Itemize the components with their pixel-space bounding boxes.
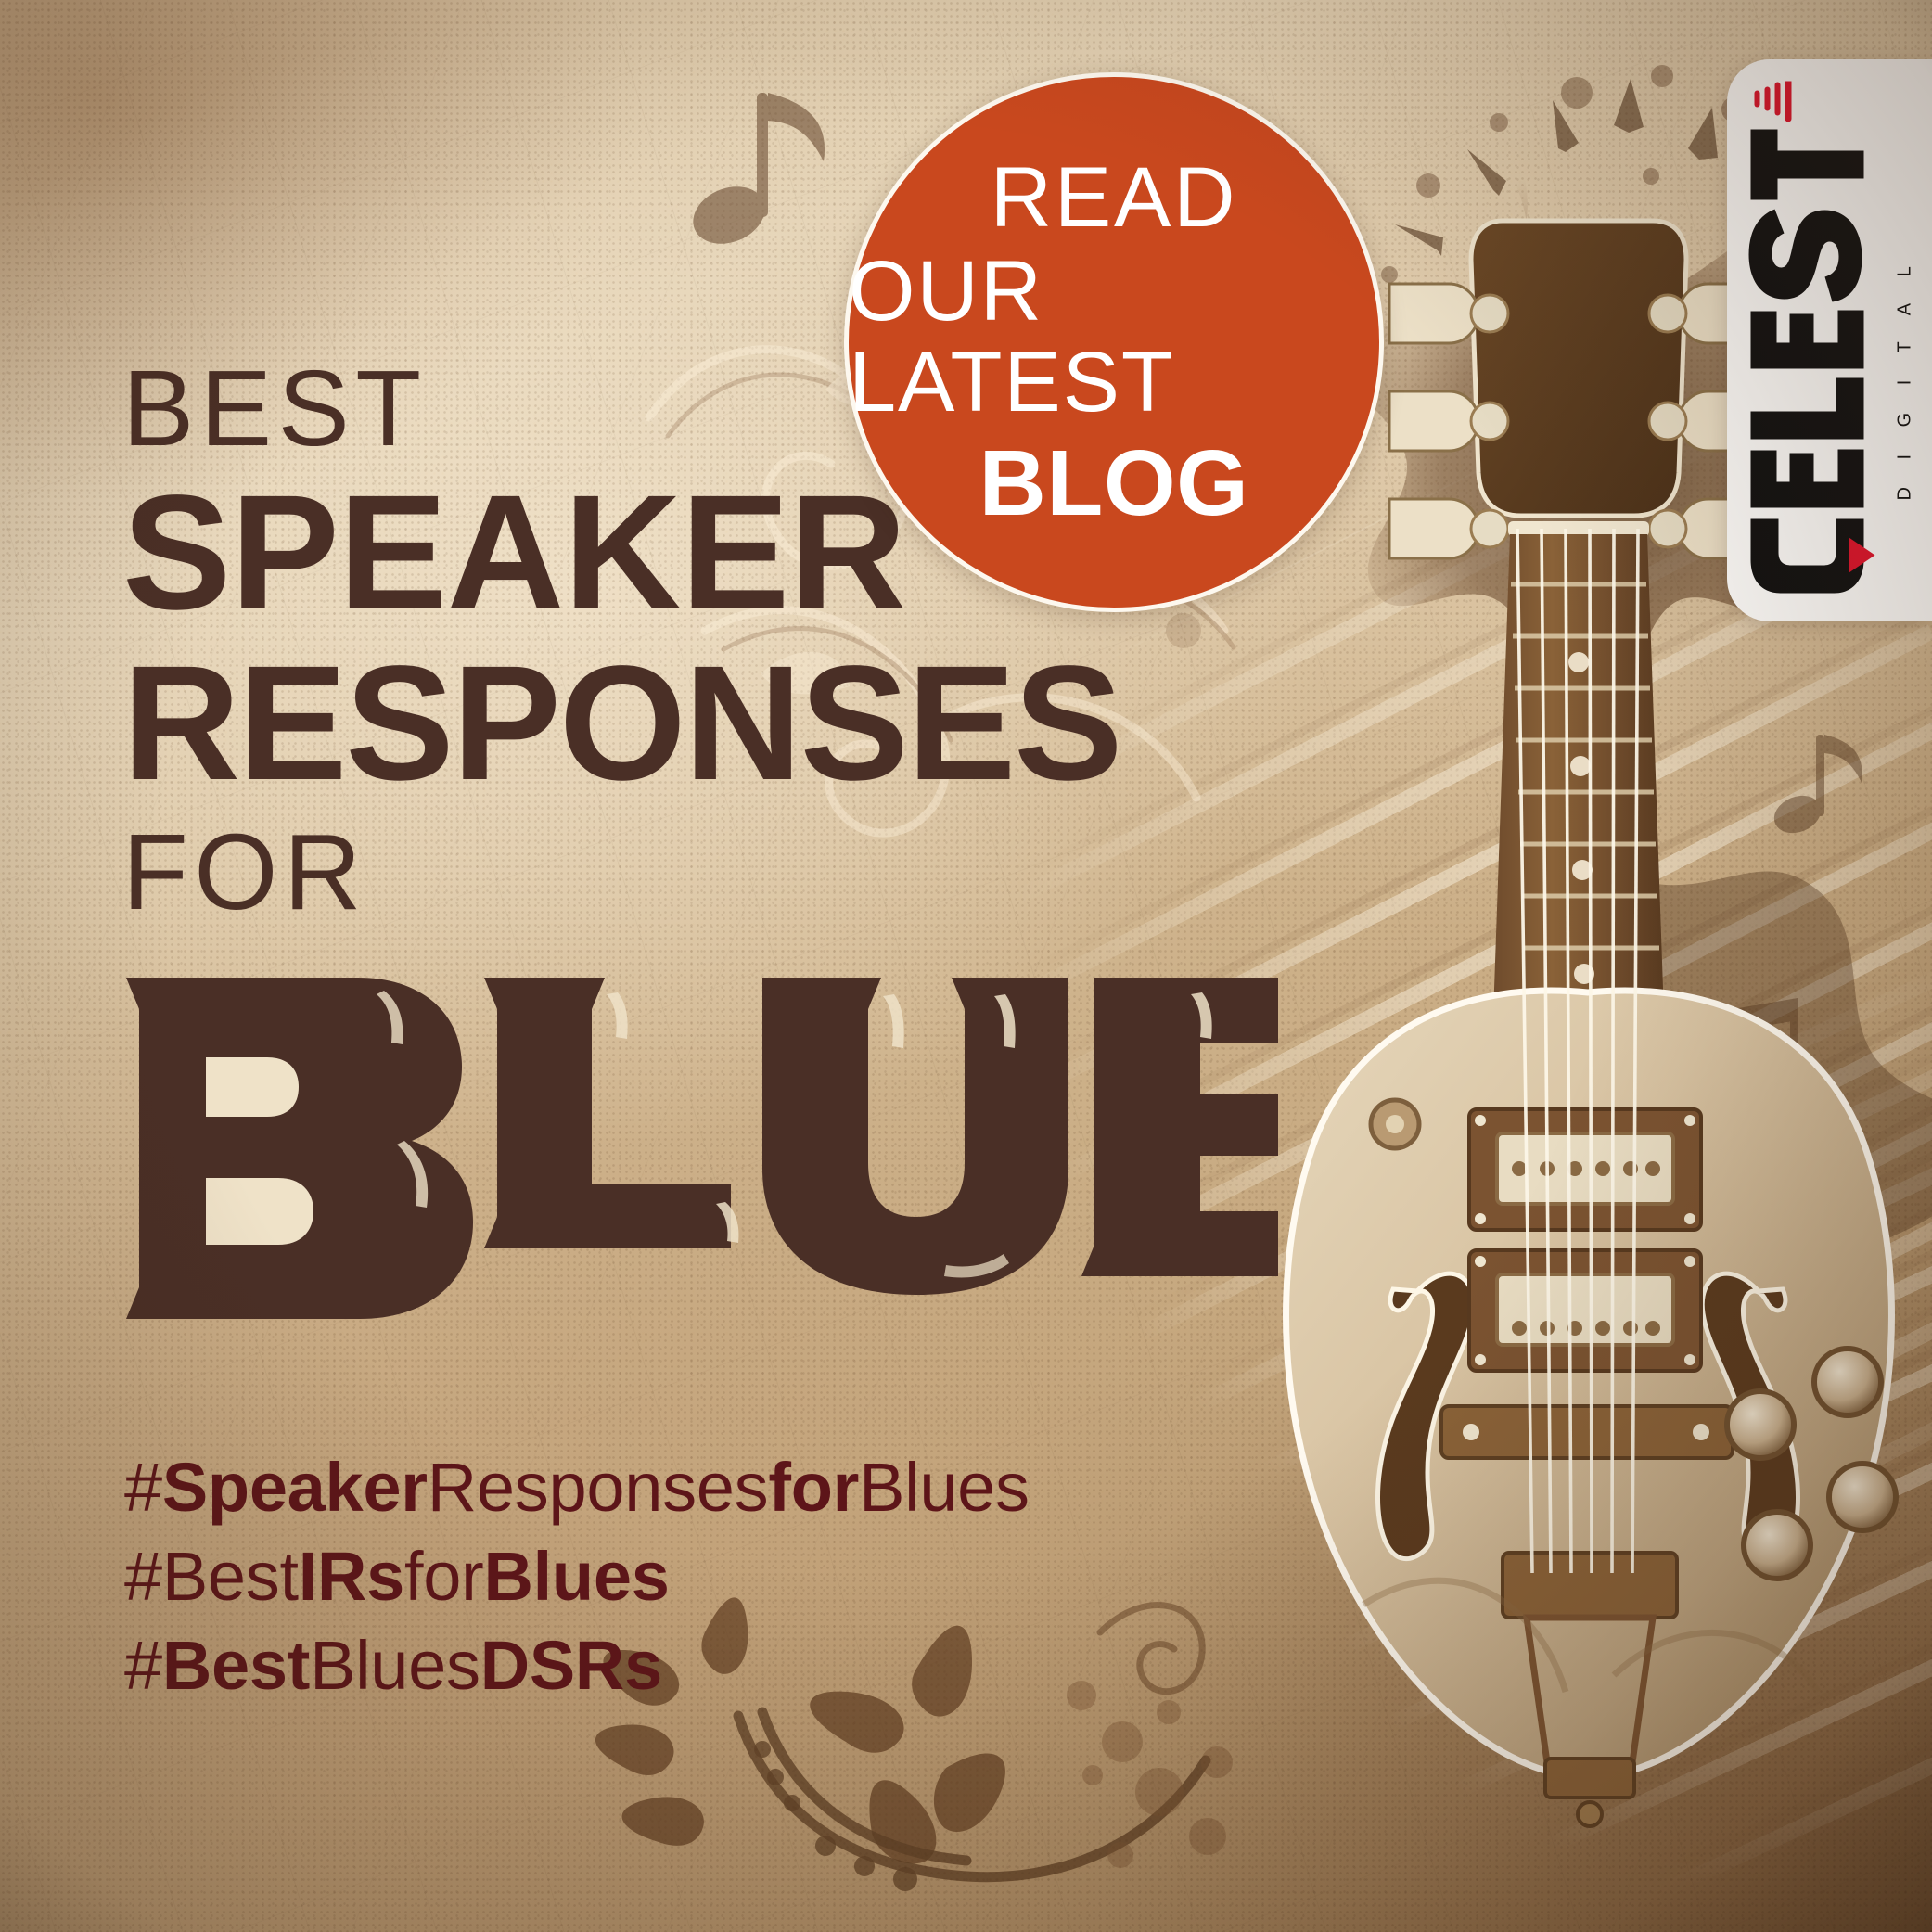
headline-line-responses: RESPONSES [122,642,1161,805]
hash-symbol: # [124,1627,162,1704]
blog-badge-line-1: READ [991,153,1238,244]
hashtag-item-3: #BestBluesDSRs [124,1621,1030,1710]
letter-U [762,978,1068,1295]
svg-text:D I G I T A L: D I G I T A L [1894,255,1914,500]
display-word-blues [109,946,1278,1345]
letter-B [126,978,473,1319]
read-latest-blog-badge[interactable]: READ OUR LATEST BLOG [844,72,1384,612]
hashtag-segment: Blues [484,1538,670,1615]
poster-canvas: BEST SPEAKER RESPONSES FOR [0,0,1932,1932]
hashtag-item-1: #SpeakerResponsesforBlues [124,1443,1030,1532]
logo-subtitle-digital: D I G I T A L [1894,255,1914,500]
hashtag-segment: Best [162,1627,310,1704]
hash-symbol: # [124,1538,162,1615]
hashtag-segment: Blues [859,1449,1030,1526]
hashtag-segment: for [404,1538,483,1615]
hashtag-segment: Responses [428,1449,769,1526]
speaker-cone-bars-icon [1754,82,1791,122]
letter-L [484,978,738,1248]
logo-rotation-wrapper: D I G I T A L [1727,60,1932,622]
hash-symbol: # [124,1449,162,1526]
hashtag-segment: for [768,1449,859,1526]
headline-line-for: FOR [122,818,1161,926]
celestion-logo: D I G I T A L [1737,82,1923,601]
celestion-digital-logo-badge[interactable]: D I G I T A L [1727,59,1932,621]
hashtag-item-2: #BestIRsforBlues [124,1532,1030,1621]
hashtag-list: #SpeakerResponsesforBlues #BestIRsforBlu… [124,1443,1030,1711]
hashtag-segment: IRs [299,1538,404,1615]
hashtag-segment: Blues [310,1627,480,1704]
hashtag-segment: Best [162,1538,299,1615]
hashtag-segment: DSRs [480,1627,662,1704]
celestion-wordmark [1748,130,1886,594]
blog-badge-line-3: BLOG [979,435,1249,531]
hashtag-segment: Speaker [162,1449,428,1526]
letter-E [1081,978,1278,1276]
blog-badge-line-2: OUR LATEST [849,247,1379,428]
